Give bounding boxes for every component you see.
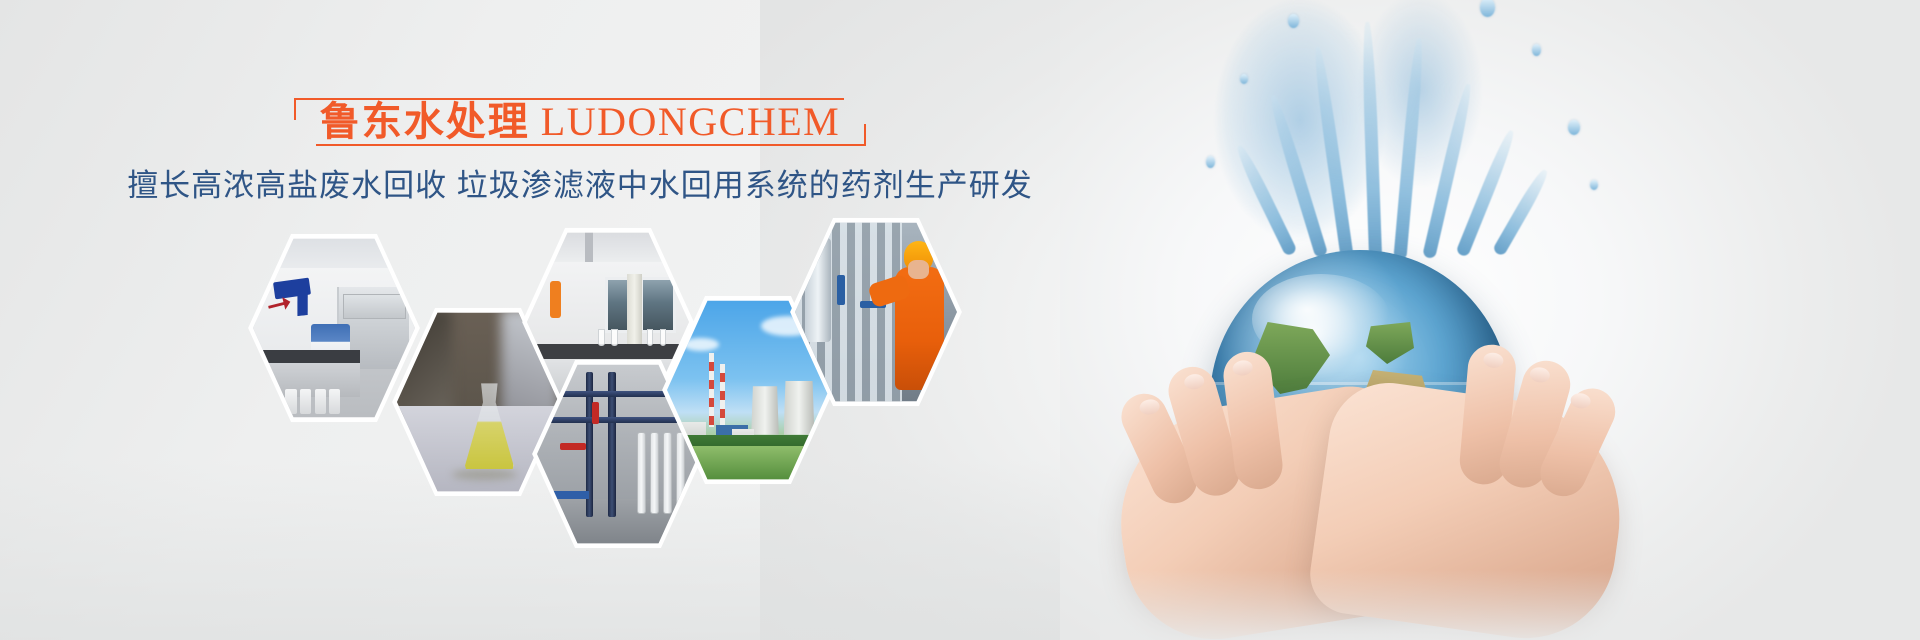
brand-title-cn: 鲁东水处理 [320,99,530,144]
hexagon-photo-laboratory-room [253,235,415,421]
title-rule-top [316,98,844,100]
title-rule-bottom [316,144,844,146]
hero-banner: 鲁东水处理 LUDONGCHEM 擅长高浓高盐废水回收 垃圾渗滤液中水回用系统的… [0,0,1920,640]
splash-crown [1240,10,1560,260]
hero-image-hands-globe [1060,0,1920,640]
continent-europe [1366,322,1414,364]
hexagon-tile-laboratory-room [248,230,420,426]
brand-title-wrap: 鲁东水处理 LUDONGCHEM [294,96,866,148]
hexagon-photo-cluster [0,196,1060,516]
brand-title: 鲁东水处理 LUDONGCHEM [320,96,840,148]
hero-bottom-fade [1100,570,1660,640]
bracket-left-icon [294,98,316,120]
headline-block: 鲁东水处理 LUDONGCHEM 擅长高浓高盐废水回收 垃圾渗滤液中水回用系统的… [0,96,1160,208]
bracket-right-icon [844,124,866,146]
brand-title-en: LUDONGCHEM [541,99,840,144]
